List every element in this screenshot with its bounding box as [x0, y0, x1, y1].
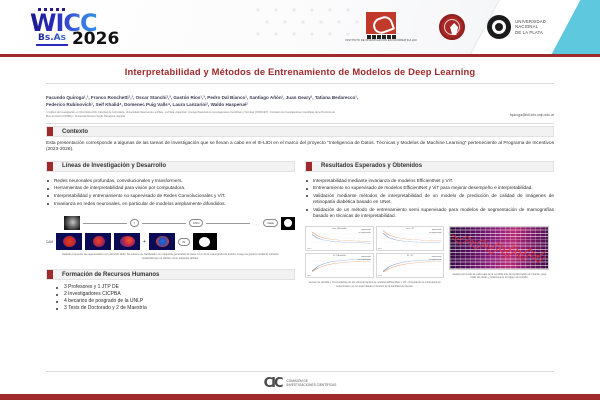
list-item: Interpretabilidad y entrenamiento no sup… — [46, 193, 295, 199]
legend-item: no supervisado — [359, 232, 371, 234]
heatmap-figure: Varianza promedio de cada capa de la red… — [449, 226, 549, 279]
pipeline-connector — [142, 223, 186, 224]
cic-logo-text: COMISIÓN DE INVESTIGACIONES CIENTÍFICAS — [286, 379, 336, 387]
contact-email: fquiroga@lidi.info.unlp.edu.ar — [510, 113, 554, 118]
contexto-section: Contexto Esta presentación corresponde a… — [0, 124, 600, 154]
chart-legend: supervisado no supervisado — [359, 256, 371, 261]
unlp-seal-logo — [439, 14, 465, 40]
legend-item: no supervisado — [359, 259, 371, 261]
charts-grid: Loss - EfficientNet — [305, 226, 444, 278]
chart-xlabel: epoch — [378, 276, 382, 277]
predicted-mask — [193, 233, 217, 250]
wicc-subline: Bs.As 2026 — [30, 32, 119, 46]
cic-line-2: INVESTIGACIONES CIENTÍFICAS — [286, 383, 336, 387]
list-item: 3 Tesis de Doctorado y 2 de Maestría — [56, 305, 295, 312]
contexto-body: Esta presentación corresponde a algunas … — [46, 141, 554, 154]
legend-item: no supervisado — [429, 259, 441, 261]
lineas-list: Redes neuronales profundas, convoluciona… — [46, 178, 295, 208]
header-institution-logos: INSTITUTO DE INVESTIGACION EN INFORMATIC… — [346, 12, 547, 43]
list-item: Redes neuronales profundas, convoluciona… — [46, 178, 295, 184]
section-tab-icon — [47, 270, 53, 279]
wicc-logo: WICC Bs.As 2026 — [30, 8, 119, 46]
right-column: Resultados Esperados y Obtenidos Interpr… — [305, 161, 554, 371]
rrhh-list: 3 Profesores y 1 JTP DE 2 Investigadores… — [46, 284, 295, 312]
pipeline-top-row: f CNN ... mask — [46, 215, 295, 231]
section-tab-icon — [47, 127, 53, 136]
affiliations-text: ¹ Instituto de Investigación en Informát… — [46, 111, 336, 118]
lineas-heading-label: Líneas de Investigación y Desarrollo — [58, 162, 166, 171]
lidi-caption: INSTITUTO DE INVESTIGACION EN INFORMATIC… — [346, 39, 418, 42]
pipeline-connector — [206, 223, 250, 224]
chart-legend: supervisado no supervisado — [359, 229, 371, 234]
pipeline-figure: f CNN ... mask CAM + thr — [46, 215, 295, 260]
training-curves-figure: Loss - EfficientNet — [305, 226, 444, 287]
conference-poster: WICC Bs.As 2026 INSTITUTO DE INVESTIGACI… — [0, 0, 600, 400]
pipeline-caption: Método propuesto de segmentación con ate… — [46, 253, 295, 260]
lineas-heading: Líneas de Investigación y Desarrollo — [46, 161, 295, 172]
lidi-mark-icon — [366, 12, 396, 34]
chart-xlabel: epoch — [307, 249, 311, 250]
rrhh-heading-label: Formación de Recursos Humanos — [58, 270, 159, 279]
authors-block: Facundo Quiroga¹,², Franco Ronchetti¹,²,… — [0, 91, 600, 124]
cam-heatmap-3 — [114, 233, 140, 250]
list-item: 2 Investigadores CICPBA — [56, 291, 295, 298]
author-list: Facundo Quiroga¹,², Franco Ronchetti¹,²,… — [46, 95, 376, 108]
cam-heatmap-1 — [56, 233, 82, 250]
poster-header: WICC Bs.As 2026 INSTITUTO DE INVESTIGACI… — [0, 0, 600, 54]
unlp-logo: UNIVERSIDAD NACIONAL DE LA PLATA — [487, 15, 546, 39]
cic-logo: CIC — [264, 376, 282, 391]
legend-item: no supervisado — [429, 232, 441, 234]
footer-red-rule — [0, 394, 600, 400]
chart-xlabel: epoch — [378, 249, 382, 250]
charts-caption: Curvas de pérdida y F1 resultantes de lo… — [305, 281, 444, 287]
unlp-logo-text: UNIVERSIDAD NACIONAL DE LA PLATA — [515, 19, 546, 35]
iii-lidi-logo: INSTITUTO DE INVESTIGACION EN INFORMATIC… — [346, 12, 418, 43]
list-item: Herramientas de interpretabilidad para v… — [46, 185, 295, 191]
plus-icon: + — [143, 239, 146, 245]
pipeline-stage-cnn: CNN — [189, 219, 204, 227]
poster-footer: CIC COMISIÓN DE INVESTIGACIONES CIENTÍFI… — [0, 372, 600, 394]
resultados-heading: Resultados Esperados y Obtenidos — [305, 161, 554, 172]
chart-loss-vit: Loss - ViT — [376, 226, 445, 251]
mask-thumbnail — [281, 217, 295, 230]
invariance-heatmap — [449, 226, 549, 270]
page-title: Interpretabilidad y Métodos de Entrenami… — [0, 66, 600, 77]
unlp-crest-icon — [487, 15, 511, 39]
section-tab-icon — [47, 162, 53, 171]
wicc-year-label: 2026 — [72, 32, 119, 46]
section-tab-icon — [306, 162, 312, 171]
list-item: 3 Profesores y 1 JTP DE — [56, 284, 295, 291]
poster-columns: Líneas de Investigación y Desarrollo Red… — [0, 154, 600, 371]
threshold-label: thr — [178, 238, 190, 246]
rrhh-section: Formación de Recursos Humanos 3 Profesor… — [46, 269, 295, 312]
list-item: Entrenamiento no supervisado de modelos … — [305, 185, 554, 191]
list-item: Validación de un método de entrenamiento… — [305, 207, 554, 219]
contexto-heading: Contexto — [46, 126, 554, 137]
affiliation-row: ¹ Instituto de Investigación en Informát… — [46, 111, 554, 118]
chart-legend: supervisado no supervisado — [429, 229, 441, 234]
resultados-list: Interpretabilidad mediante invarianza de… — [305, 178, 554, 221]
chart-f1-vit: F1 - ViT — [376, 253, 445, 278]
heatmap-caption: Varianza promedio de cada capa de la red… — [449, 273, 549, 279]
list-item: Validación mediante métodos de interpret… — [305, 193, 554, 205]
cam-row-label: CAM — [46, 240, 53, 244]
chart-xlabel: epoch — [307, 276, 311, 277]
pipeline-cam-row: CAM + thr — [46, 233, 295, 250]
chart-loss-efficientnet: Loss - EfficientNet — [305, 226, 374, 251]
mammogram-thumbnail — [64, 216, 80, 230]
title-band: Interpretabilidad y Métodos de Entrenami… — [0, 57, 600, 91]
list-item: 4 becarios de posgrado de la UNLP — [56, 298, 295, 305]
contexto-heading-label: Contexto — [58, 127, 88, 136]
list-item: Interpretabilidad mediante invarianza de… — [305, 178, 554, 184]
heatmap-overlay-svg — [450, 227, 548, 269]
rrhh-heading: Formación de Recursos Humanos — [46, 269, 295, 280]
unlp-line-3: DE LA PLATA — [515, 30, 546, 35]
wicc-bsas-label: Bs.As — [36, 33, 68, 46]
cam-heatmap-2 — [85, 233, 111, 250]
list-item: Invarianza en redes neuronales, en parti… — [46, 201, 295, 207]
pipeline-ellipsis: ... — [253, 221, 259, 226]
cam-heatmap-4 — [149, 233, 175, 250]
pipeline-stage-f: f — [130, 219, 139, 227]
right-figures: Loss - EfficientNet — [305, 226, 554, 287]
pipeline-connector — [83, 223, 127, 224]
left-column: Líneas de Investigación y Desarrollo Red… — [46, 161, 295, 371]
resultados-heading-label: Resultados Esperados y Obtenidos — [317, 162, 422, 171]
chart-legend: supervisado no supervisado — [429, 256, 441, 261]
chart-f1-efficientnet: F1 - EfficientNet — [305, 253, 374, 278]
title-divider — [46, 83, 554, 84]
pipeline-output-label: mask — [263, 219, 278, 227]
